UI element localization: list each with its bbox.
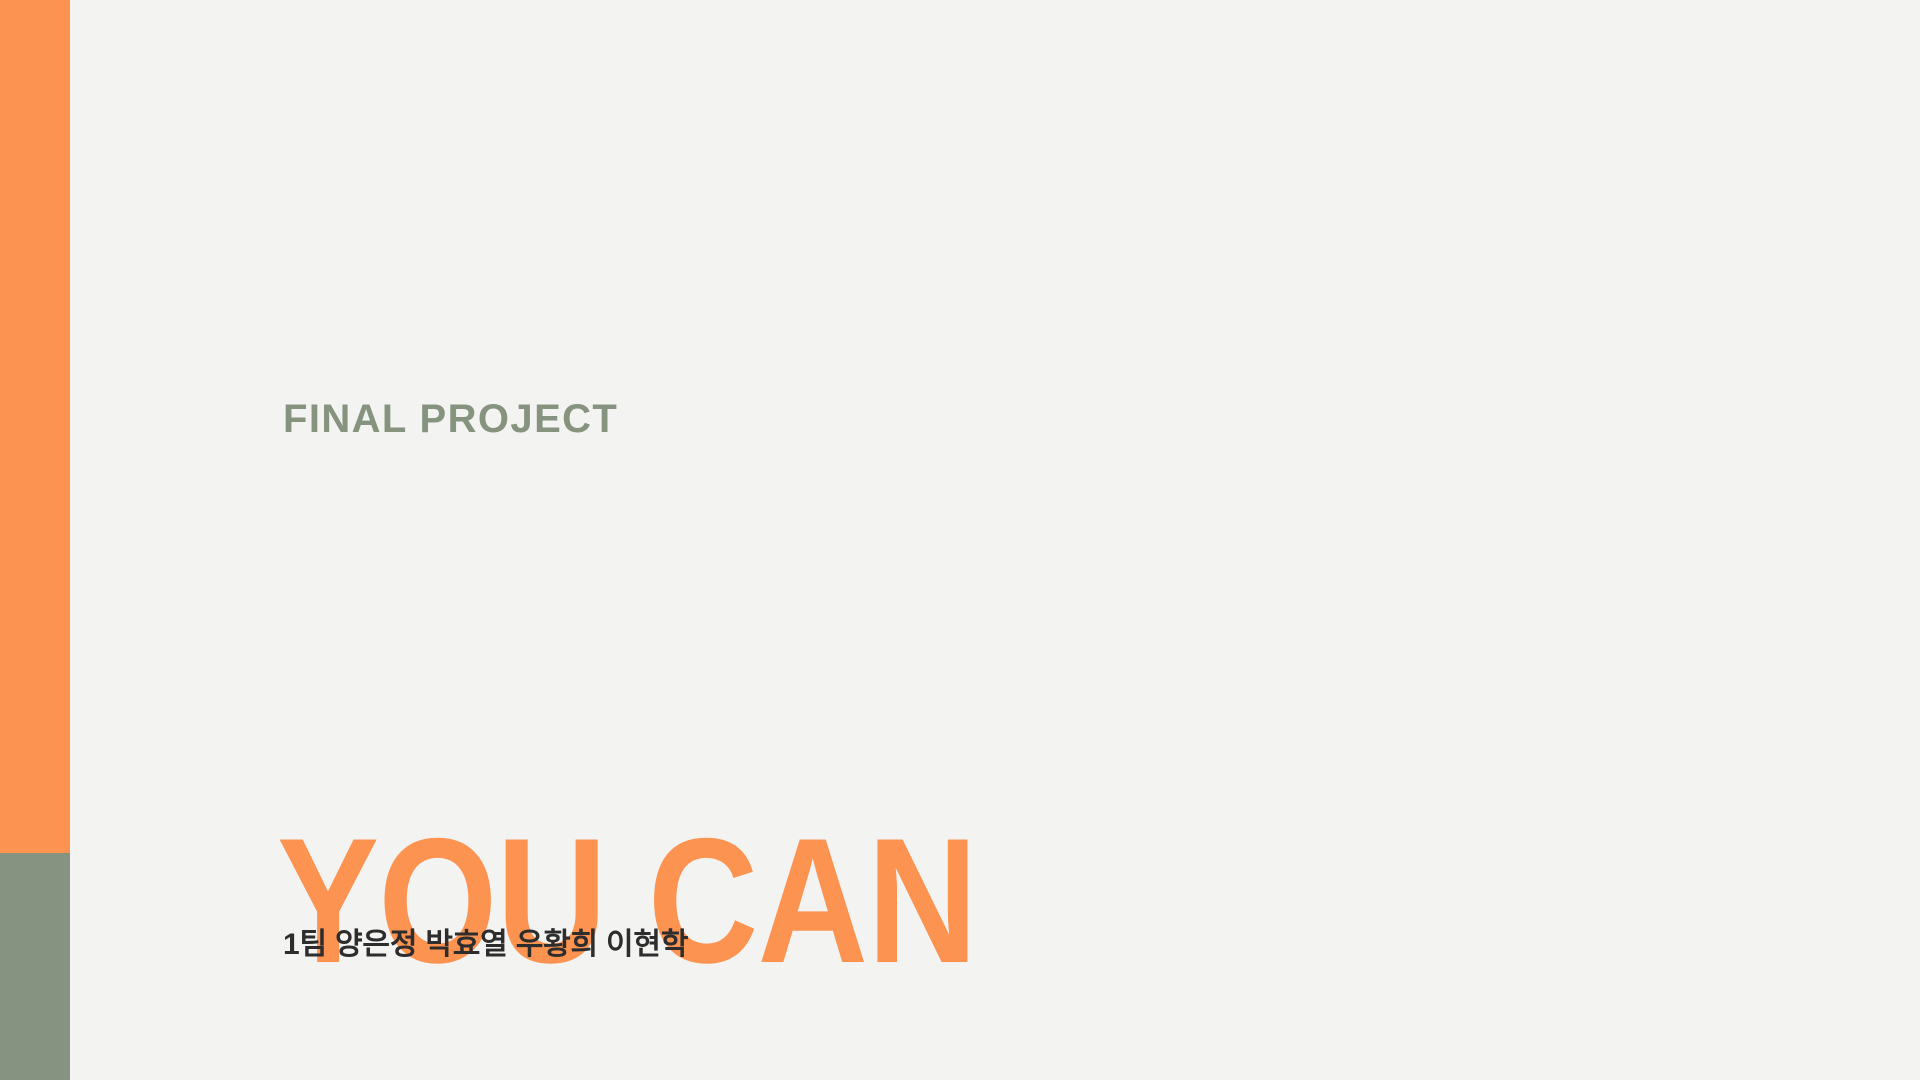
slide-eyebrow: FINAL PROJECT xyxy=(283,399,618,439)
slide-byline: 1팀 양은정 박효열 우황희 이현학 xyxy=(283,927,688,963)
slide-content: FINAL PROJECT YOU CAN DO EAT 1팀 양은정 박효열 … xyxy=(283,0,1783,1080)
accent-bar-orange-segment xyxy=(0,0,70,853)
title-slide: FINAL PROJECT YOU CAN DO EAT 1팀 양은정 박효열 … xyxy=(0,0,1920,1080)
slide-title: YOU CAN DO EAT xyxy=(277,487,977,1080)
accent-bar-green-segment xyxy=(0,853,70,1080)
left-accent-bar xyxy=(0,0,70,1080)
